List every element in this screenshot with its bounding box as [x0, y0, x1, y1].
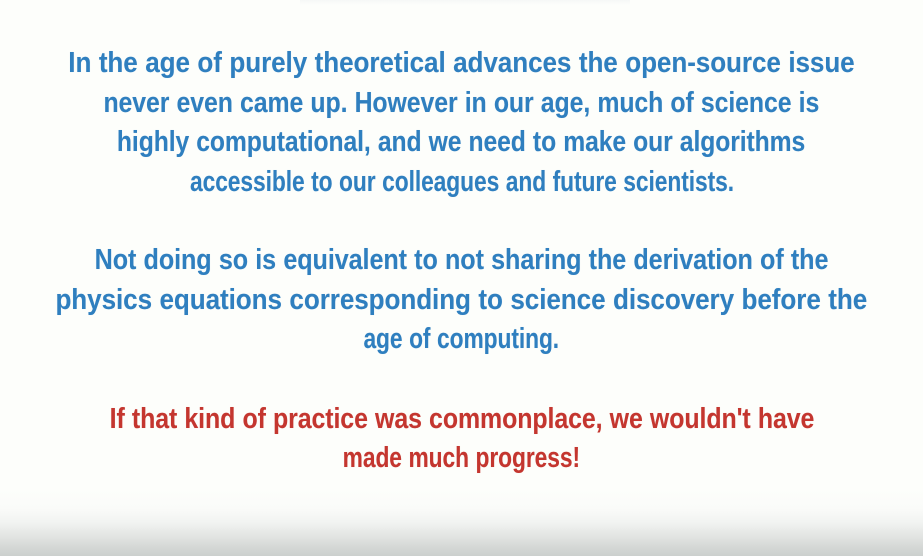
- text-line: physics equations corresponding to scien…: [56, 281, 868, 321]
- quote-text-block: In the age of purely theoretical advance…: [0, 0, 923, 479]
- paragraph-analogy: Not doing so is equivalent to not sharin…: [0, 241, 923, 360]
- text-line: If that kind of practice was commonplace…: [109, 400, 814, 440]
- slide-canvas: In the age of purely theoretical advance…: [0, 0, 923, 556]
- paragraph-spacer: [0, 360, 923, 400]
- paragraph-spacer: [0, 202, 923, 241]
- text-line: Not doing so is equivalent to not sharin…: [95, 241, 829, 281]
- text-line: never even came up. However in our age, …: [104, 84, 820, 124]
- paragraph-opening: In the age of purely theoretical advance…: [0, 44, 923, 202]
- text-line: age of computing.: [364, 320, 560, 360]
- text-line: accessible to our colleagues and future …: [190, 163, 734, 203]
- paragraph-punchline: If that kind of practice was commonplace…: [0, 400, 923, 479]
- text-line: highly computational, and we need to mak…: [117, 123, 805, 163]
- text-line: made much progress!: [343, 439, 580, 479]
- text-line: In the age of purely theoretical advance…: [68, 44, 854, 84]
